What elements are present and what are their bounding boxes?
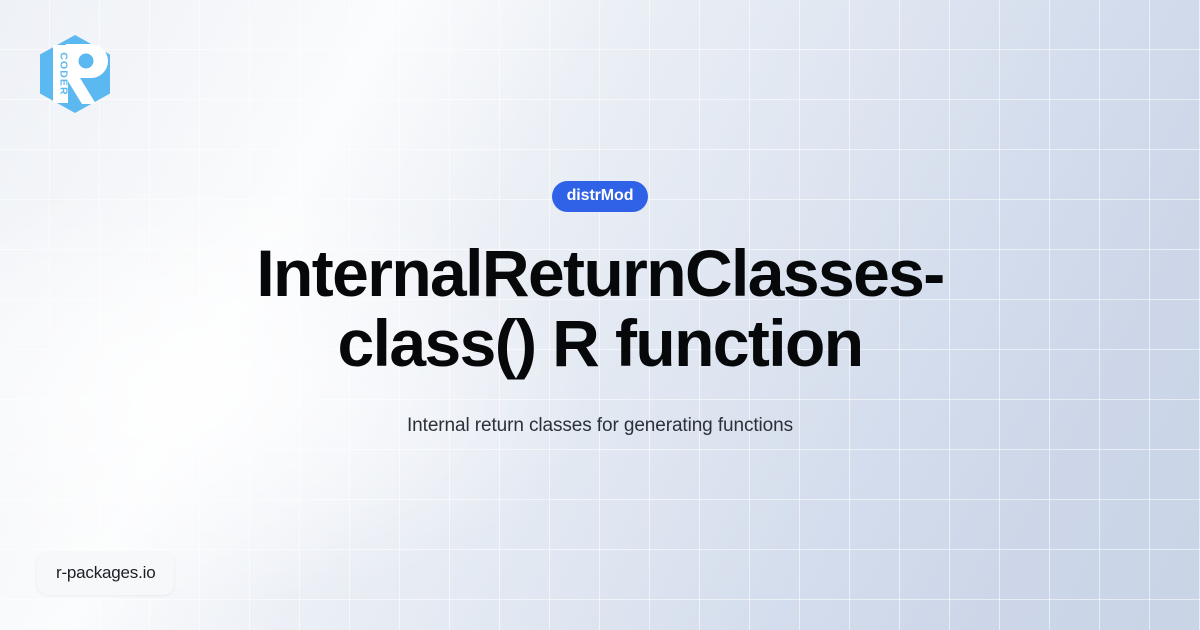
social-preview-card: CODER distrMod InternalReturnClasses-cla…: [0, 0, 1200, 630]
package-name-badge[interactable]: distrMod: [552, 181, 649, 212]
site-domain-badge[interactable]: r-packages.io: [37, 552, 174, 595]
page-subtitle: Internal return classes for generating f…: [407, 379, 793, 440]
page-title: InternalReturnClasses-class() R function: [250, 238, 950, 379]
hero-content: distrMod InternalReturnClasses-class() R…: [0, 0, 1200, 630]
